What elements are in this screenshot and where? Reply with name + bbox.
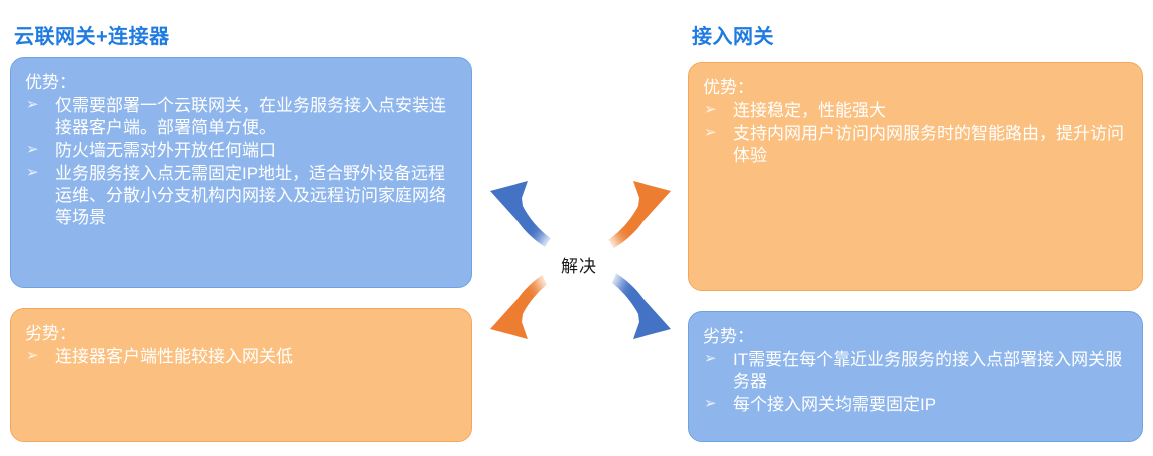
bullet-arrow-icon: ➢ [26, 95, 39, 115]
list-item: ➢ 业务服务接入点无需固定IP地址，适合野外设备远程运维、分散小分支机构内网接入… [18, 163, 457, 229]
right-disadvantages-list: ➢ IT需要在每个靠近业务服务的接入点部署接入网关服务器 ➢ 每个接入网关均需要… [696, 349, 1128, 416]
bullet-arrow-icon: ➢ [704, 394, 717, 414]
bullet-arrow-icon: ➢ [704, 349, 717, 369]
left-advantages-list: ➢ 仅需要部署一个云联网关，在业务服务接入点安装连接器客户端。部署简单方便。 ➢… [18, 95, 457, 230]
bullet-arrow-icon: ➢ [26, 140, 39, 160]
left-disadvantages-list: ➢ 连接器客户端性能较接入网关低 [18, 346, 457, 368]
list-item: ➢ 连接器客户端性能较接入网关低 [18, 346, 457, 368]
list-item-text: 防火墙无需对外开放任何端口 [55, 141, 276, 160]
list-item-text: 连接器客户端性能较接入网关低 [55, 347, 293, 366]
left-column-title: 云联网关+连接器 [14, 20, 170, 49]
right-column-title: 接入网关 [692, 20, 774, 49]
comparison-diagram: 云联网关+连接器 接入网关 优势： ➢ 仅需要部署一个云联网关，在业务服务接入点… [0, 0, 1153, 456]
list-item: ➢ 防火墙无需对外开放任何端口 [18, 140, 457, 162]
center-label: 解决 [561, 252, 597, 277]
list-item-text: 业务服务接入点无需固定IP地址，适合野外设备远程运维、分散小分支机构内网接入及远… [55, 164, 446, 227]
center-hub: 解决 [478, 165, 683, 355]
list-item: ➢ 支持内网用户访问内网服务时的智能路由，提升访问体验 [696, 123, 1128, 167]
left-advantages-label: 优势： [18, 72, 457, 94]
bullet-arrow-icon: ➢ [26, 346, 39, 366]
list-item-text: IT需要在每个靠近业务服务的接入点部署接入网关服务器 [733, 350, 1122, 391]
left-disadvantages-panel: 劣势： ➢ 连接器客户端性能较接入网关低 [10, 308, 472, 442]
right-advantages-panel: 优势： ➢ 连接稳定，性能强大 ➢ 支持内网用户访问内网服务时的智能路由，提升访… [688, 62, 1143, 291]
left-advantages-panel: 优势： ➢ 仅需要部署一个云联网关，在业务服务接入点安装连接器客户端。部署简单方… [10, 57, 472, 288]
bullet-arrow-icon: ➢ [26, 163, 39, 183]
list-item-text: 仅需要部署一个云联网关，在业务服务接入点安装连接器客户端。部署简单方便。 [55, 96, 446, 137]
right-advantages-list: ➢ 连接稳定，性能强大 ➢ 支持内网用户访问内网服务时的智能路由，提升访问体验 [696, 100, 1128, 167]
left-disadvantages-label: 劣势： [18, 323, 457, 345]
list-item-text: 每个接入网关均需要固定IP [733, 395, 936, 414]
right-disadvantages-label: 劣势： [696, 326, 1128, 348]
list-item-text: 连接稳定，性能强大 [733, 101, 886, 120]
list-item: ➢ 每个接入网关均需要固定IP [696, 394, 1128, 416]
list-item: ➢ IT需要在每个靠近业务服务的接入点部署接入网关服务器 [696, 349, 1128, 393]
list-item: ➢ 仅需要部署一个云联网关，在业务服务接入点安装连接器客户端。部署简单方便。 [18, 95, 457, 139]
bullet-arrow-icon: ➢ [704, 123, 717, 143]
right-advantages-label: 优势： [696, 77, 1128, 99]
center-circle: 解决 [541, 226, 617, 302]
list-item-text: 支持内网用户访问内网服务时的智能路由，提升访问体验 [733, 124, 1124, 165]
right-disadvantages-panel: 劣势： ➢ IT需要在每个靠近业务服务的接入点部署接入网关服务器 ➢ 每个接入网… [688, 311, 1143, 442]
bullet-arrow-icon: ➢ [704, 100, 717, 120]
list-item: ➢ 连接稳定，性能强大 [696, 100, 1128, 122]
